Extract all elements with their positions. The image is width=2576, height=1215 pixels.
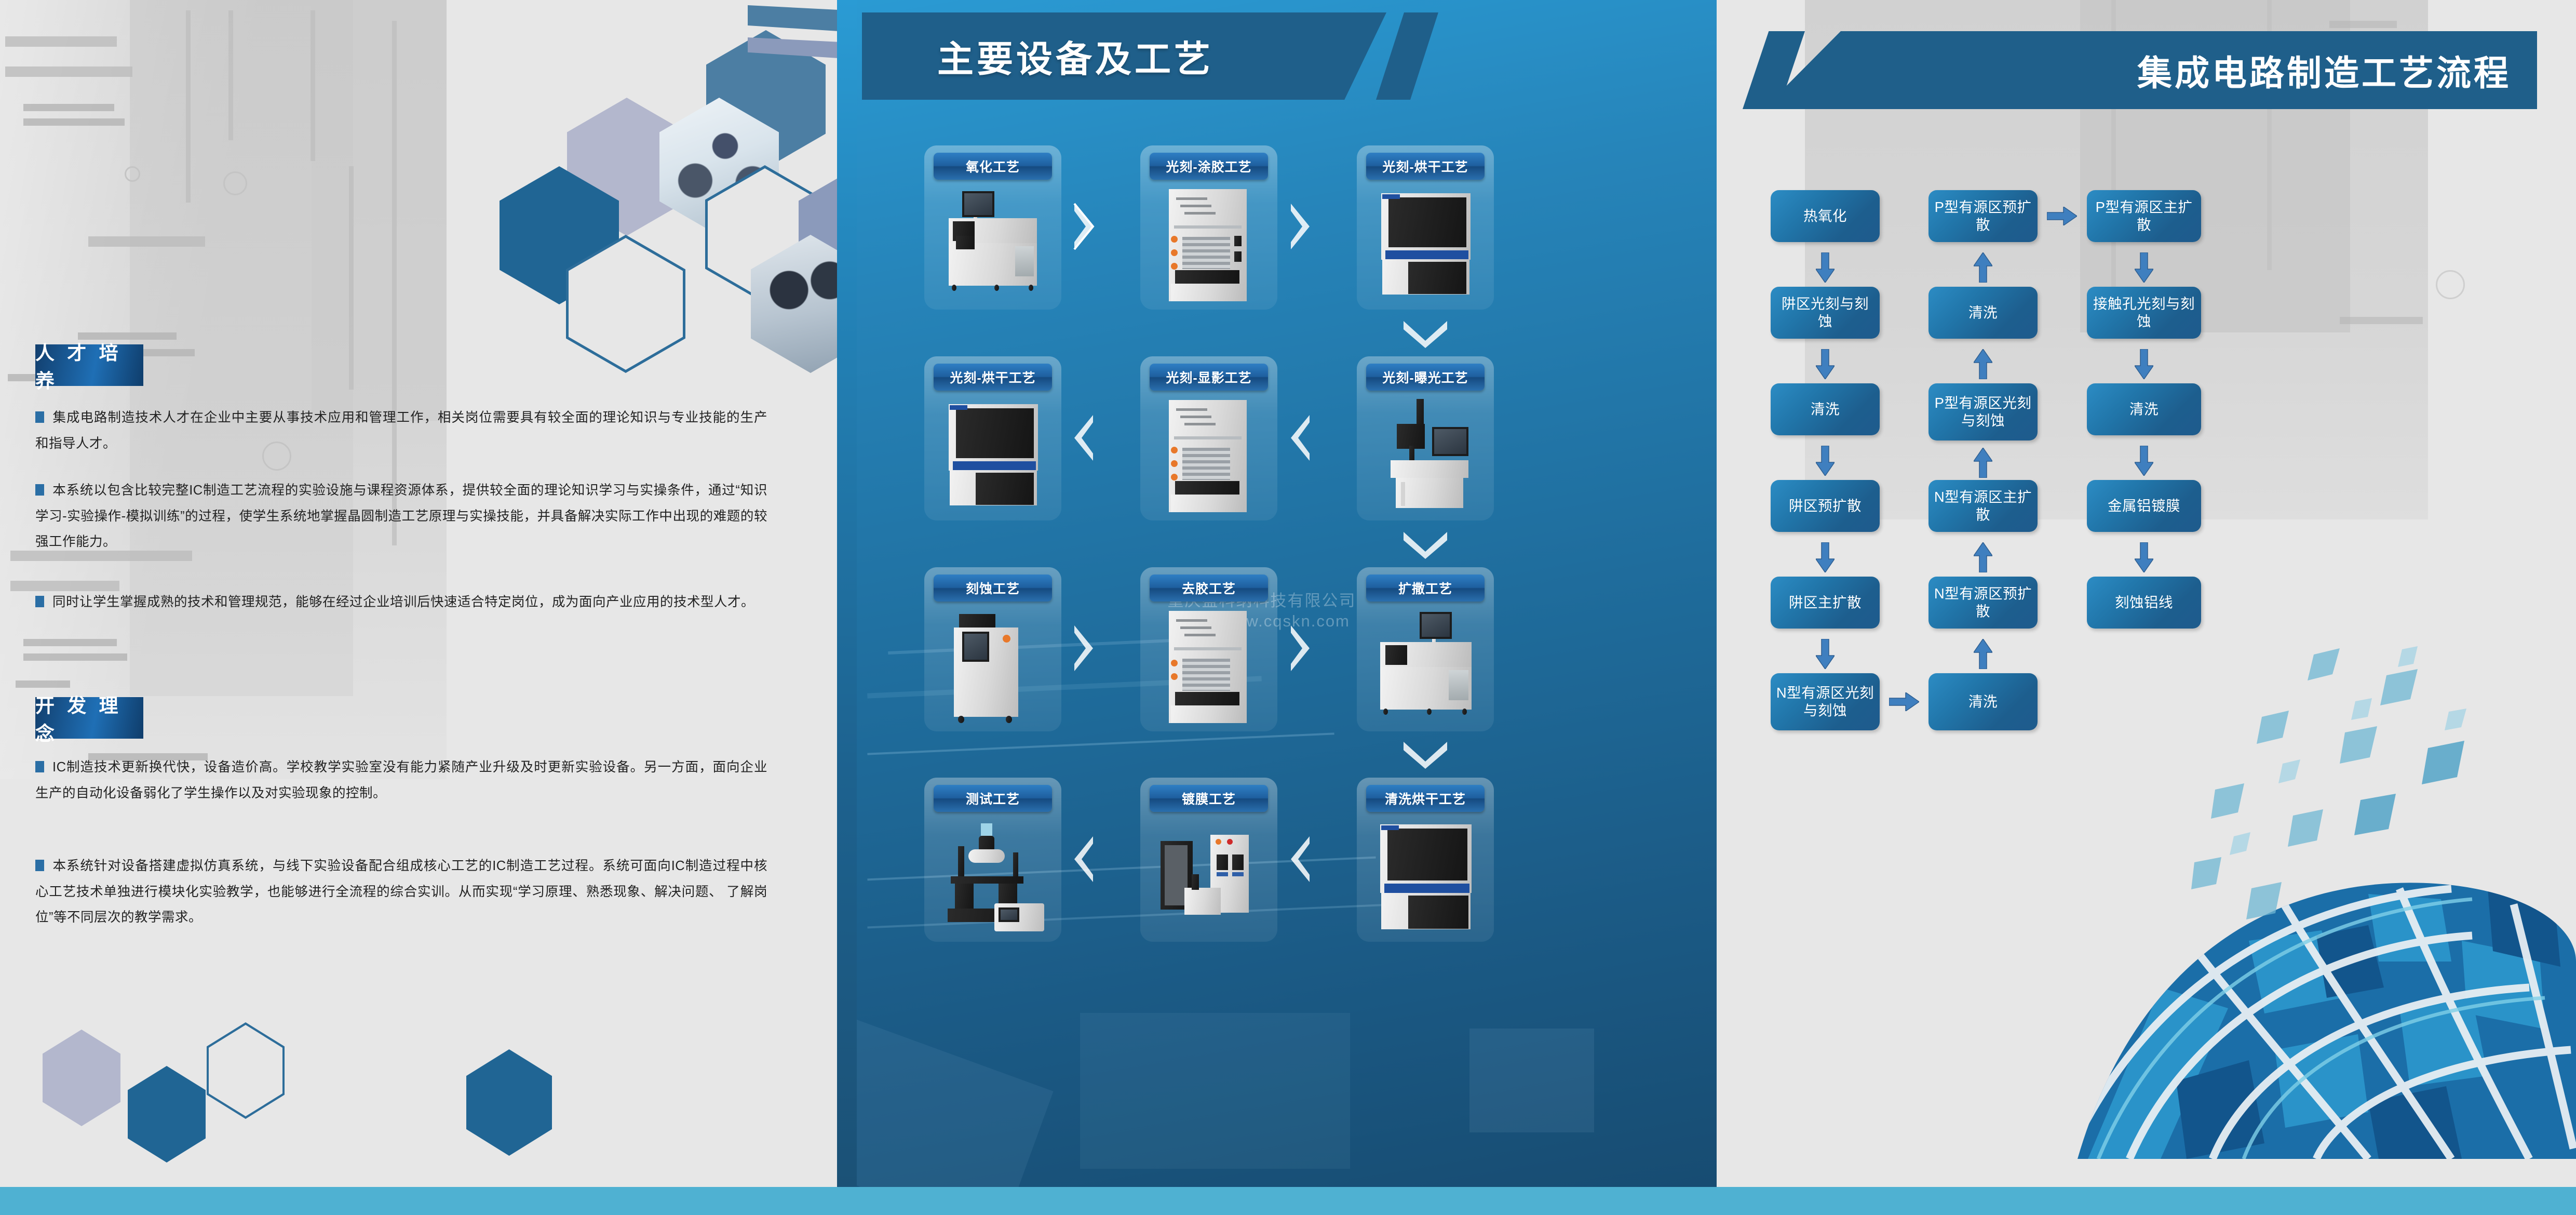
decor-dash — [16, 680, 70, 688]
paragraph-text: 本系统以包含比较完整IC制造工艺流程的实验设施与课程资源体系，提供较全面的理论知… — [35, 483, 767, 549]
equipment-label: 光刻-显影工艺 — [1150, 364, 1268, 391]
flow-box[interactable]: 阱区预扩散 — [1771, 480, 1880, 532]
equipment-card[interactable]: 清洗烘干工艺 — [1357, 778, 1494, 942]
right-panel-title-banner: 集成电路制造工艺流程 — [1763, 31, 2537, 109]
flow-box[interactable]: 热氧化 — [1771, 190, 1880, 242]
decor-dash — [23, 104, 114, 111]
equipment-photo-fumehood — [1153, 399, 1264, 513]
arrow-right-icon — [2047, 207, 2077, 225]
arrow-up-icon — [1974, 349, 1992, 379]
arrow-down-icon — [1816, 446, 1835, 476]
equipment-photo-oxidation — [937, 188, 1048, 302]
bullet-icon — [35, 596, 44, 607]
equipment-photo-aligner — [1370, 399, 1481, 513]
equipment-photo-oven — [1370, 820, 1481, 934]
flow-box[interactable]: 金属铝镀膜 — [2087, 480, 2201, 532]
paragraph-talent-1: 集成电路制造技术人才在企业中主要从事技术应用和管理工作，相关岗位需要具有较全面的… — [35, 405, 767, 457]
decor-dash — [23, 118, 125, 126]
section-tag-concept: 开 发 理 念 — [35, 697, 143, 739]
arrow-down-icon — [2135, 349, 2153, 379]
equipment-card[interactable]: 镀膜工艺 — [1140, 778, 1277, 942]
flow-box[interactable]: 接触孔光刻与刻蚀 — [2087, 287, 2201, 339]
equipment-photo-oven — [1370, 188, 1481, 302]
paragraph-text: IC制造技术更新换代快，设备造价高。学校教学实验室没有能力紧随产业升级及时更新实… — [35, 760, 767, 800]
flow-box[interactable]: N型有源区预扩散 — [1928, 577, 2038, 629]
equipment-card[interactable]: 光刻-涂胶工艺 — [1140, 145, 1277, 310]
decor-bar — [88, 236, 205, 247]
equipment-card[interactable]: 扩撒工艺 — [1357, 567, 1494, 731]
arrow-right-icon — [1288, 623, 1313, 673]
equipment-label: 光刻-涂胶工艺 — [1150, 153, 1268, 180]
flow-box[interactable]: 阱区主扩散 — [1771, 577, 1880, 629]
equipment-label: 镀膜工艺 — [1150, 785, 1268, 812]
decor-line — [349, 166, 354, 390]
flow-box[interactable]: 清洗 — [1771, 383, 1880, 435]
decor-dash — [23, 653, 127, 661]
equipment-card[interactable]: 光刻-曝光工艺 — [1357, 356, 1494, 520]
hexagon-decor-blue-2 — [466, 1049, 552, 1156]
center-panel-title-banner: 主要设备及工艺 — [862, 12, 1386, 100]
equipment-card[interactable]: 光刻-显影工艺 — [1140, 356, 1277, 520]
flow-box[interactable]: 清洗 — [2087, 383, 2201, 435]
decor-bar — [5, 66, 132, 77]
decor-block — [857, 1017, 1054, 1187]
arrow-down-icon — [1816, 639, 1835, 669]
right-panel-title: 集成电路制造工艺流程 — [2137, 45, 2511, 96]
equipment-label: 氧化工艺 — [934, 153, 1052, 180]
title-slash-decor — [1376, 12, 1438, 100]
equipment-label: 清洗烘干工艺 — [1366, 785, 1485, 812]
section-tag-talent: 人 才 培 养 — [35, 344, 143, 386]
flow-box[interactable]: P型有源区主扩散 — [2087, 190, 2201, 242]
equipment-photo-probe-station — [937, 820, 1048, 934]
paragraph-concept-2: 本系统针对设备搭建虚拟仿真系统，与线下实验设备配合组成核心工艺的IC制造工艺过程… — [35, 853, 767, 931]
equipment-card[interactable]: 光刻-烘干工艺 — [1357, 145, 1494, 310]
poster-canvas: 人 才 培 养 集成电路制造技术人才在企业中主要从事技术应用和管理工作，相关岗位… — [0, 0, 2576, 1215]
equipment-label: 光刻-曝光工艺 — [1366, 364, 1485, 391]
flow-box[interactable]: N型有源区光刻 与刻蚀 — [1771, 673, 1880, 730]
panel-divider-strip — [837, 0, 857, 1187]
arrow-down-icon — [2135, 252, 2153, 283]
decor-line — [311, 10, 315, 161]
flow-box[interactable]: P型有源区光刻 与刻蚀 — [1928, 383, 2038, 440]
arrow-right-icon — [1889, 692, 1919, 711]
paragraph-text: 集成电路制造技术人才在企业中主要从事技术应用和管理工作，相关岗位需要具有较全面的… — [35, 410, 767, 451]
bullet-icon — [35, 860, 44, 871]
equipment-photo-diffusion — [1370, 610, 1481, 724]
hexagon-decor-blue — [128, 1066, 206, 1163]
arrow-down-icon — [1816, 349, 1835, 379]
decor-dash — [23, 639, 117, 646]
equipment-label: 光刻-烘干工艺 — [934, 364, 1052, 391]
decor-bar — [5, 36, 117, 47]
center-panel: 主要设备及工艺 氧化工艺 光刻-涂胶工艺 — [857, 0, 1717, 1187]
equipment-photo-coater — [1153, 820, 1264, 934]
paragraph-text: 本系统针对设备搭建虚拟仿真系统，与线下实验设备配合组成核心工艺的IC制造工艺过程… — [35, 859, 767, 925]
decor-circle — [223, 171, 247, 195]
arrow-up-icon — [1974, 448, 1992, 478]
arrow-right-icon — [1071, 623, 1096, 673]
equipment-card[interactable]: 去胶工艺 — [1140, 567, 1277, 731]
equipment-card[interactable]: 测试工艺 — [924, 778, 1061, 942]
arrow-right-icon — [1071, 202, 1096, 251]
equipment-label: 刻蚀工艺 — [934, 575, 1052, 602]
flow-box[interactable]: 清洗 — [1928, 287, 2038, 339]
arrow-down-icon — [1400, 740, 1450, 769]
flow-box[interactable]: P型有源区预扩散 — [1928, 190, 2038, 242]
paragraph-talent-2: 本系统以包含比较完整IC制造工艺流程的实验设施与课程资源体系，提供较全面的理论知… — [35, 478, 767, 555]
arrow-left-icon — [1288, 834, 1313, 884]
decor-dash — [2329, 21, 2397, 28]
flow-box[interactable]: N型有源区主扩散 — [1928, 480, 2038, 532]
flow-box[interactable]: 阱区光刻与刻蚀 — [1771, 287, 1880, 339]
arrow-down-icon — [1400, 530, 1450, 559]
equipment-label: 测试工艺 — [934, 785, 1052, 812]
equipment-photo-etcher — [937, 610, 1048, 724]
bottom-accent-bar — [0, 1187, 2576, 1215]
arrow-up-icon — [1974, 639, 1992, 669]
arrow-up-icon — [1974, 542, 1992, 572]
arrow-left-icon — [1071, 413, 1096, 463]
decor-line — [186, 10, 191, 203]
decor-block — [1080, 1013, 1350, 1169]
paragraph-concept-1: IC制造技术更新换代快，设备造价高。学校教学实验室没有能力紧随产业升级及时更新实… — [35, 755, 767, 806]
circuit-background-decor-3 — [312, 0, 447, 421]
equipment-photo-oven — [937, 399, 1048, 513]
hexagon-decor-outline — [207, 1022, 285, 1119]
right-panel: 集成电路制造工艺流程 热氧化 阱区光刻与刻蚀 清洗 阱区预扩散 阱区主扩散 N型… — [1717, 0, 2576, 1187]
equipment-label: 扩撒工艺 — [1366, 575, 1485, 602]
arrow-down-icon — [2135, 446, 2153, 476]
paragraph-text: 同时让学生掌握成熟的技术和管理规范，能够在经过企业培训后快速适合特定岗位，成为面… — [52, 595, 754, 609]
left-panel: 人 才 培 养 集成电路制造技术人才在企业中主要从事技术应用和管理工作，相关岗位… — [0, 0, 857, 1215]
equipment-photo-fumehood — [1153, 610, 1264, 724]
equipment-card[interactable]: 刻蚀工艺 — [924, 567, 1061, 731]
arrow-down-icon — [1400, 319, 1450, 348]
decor-block — [1469, 1029, 1594, 1132]
decor-circle — [2436, 270, 2465, 299]
arrow-down-icon — [2135, 542, 2153, 572]
arrow-right-icon — [1288, 202, 1313, 251]
decor-streak — [867, 732, 1334, 755]
equipment-label: 光刻-烘干工艺 — [1366, 153, 1485, 180]
equipment-label: 去胶工艺 — [1150, 575, 1268, 602]
bullet-icon — [35, 411, 44, 423]
equipment-card[interactable]: 氧化工艺 — [924, 145, 1061, 310]
hexagon-photo-cluster — [509, 10, 831, 405]
equipment-card[interactable]: 光刻-烘干工艺 — [924, 356, 1061, 520]
arrow-left-icon — [1071, 834, 1096, 884]
hexagon-decor-lavender — [43, 1030, 120, 1126]
arrow-left-icon — [1288, 413, 1313, 463]
flow-box[interactable]: 刻蚀铝线 — [2087, 577, 2201, 629]
paragraph-talent-3: 同时让学生掌握成熟的技术和管理规范，能够在经过企业培训后快速适合特定岗位，成为面… — [35, 590, 767, 616]
equipment-photo-fumehood — [1153, 188, 1264, 302]
decor-dash — [2340, 317, 2423, 324]
shard-decor — [2184, 644, 2547, 1010]
decor-line — [392, 21, 397, 545]
decor-line — [228, 10, 233, 140]
bullet-icon — [35, 484, 44, 496]
bullet-icon — [35, 761, 44, 772]
arrow-down-icon — [1816, 252, 1835, 283]
arrow-up-icon — [1974, 252, 1992, 283]
arrow-down-icon — [1816, 542, 1835, 572]
center-panel-title: 主要设备及工艺 — [937, 30, 1213, 83]
decor-circle — [125, 166, 140, 182]
